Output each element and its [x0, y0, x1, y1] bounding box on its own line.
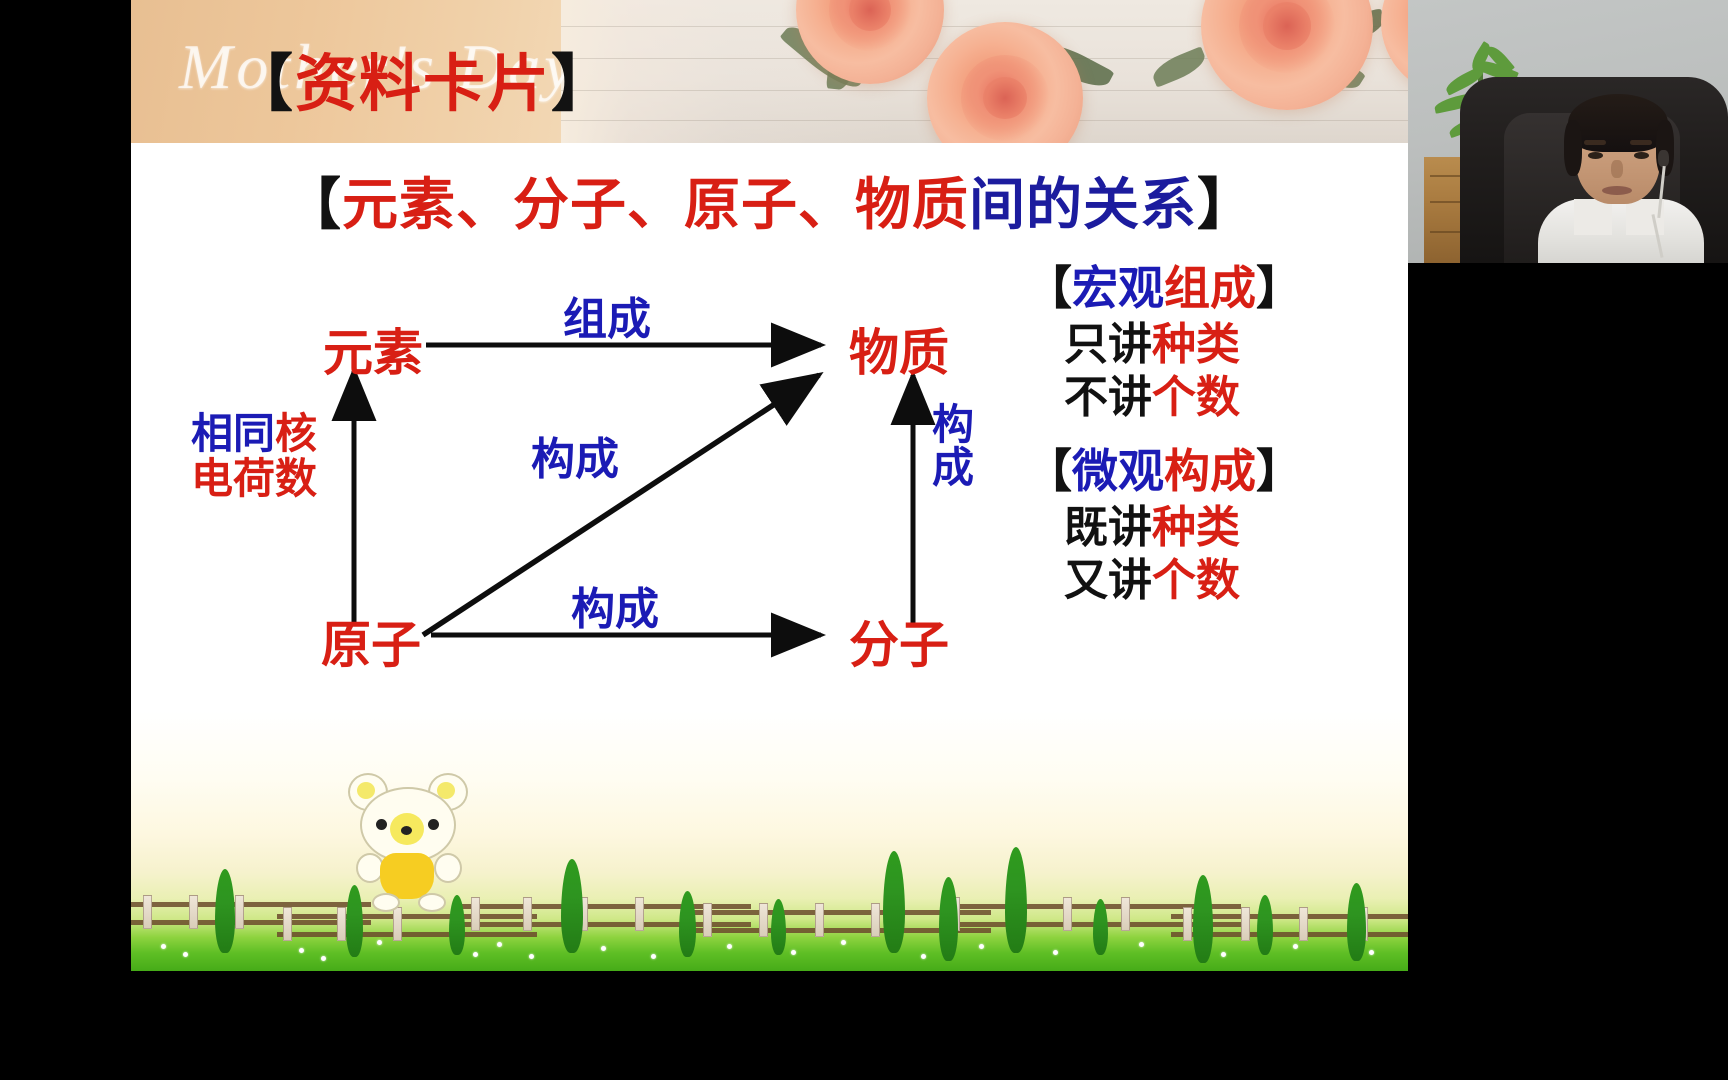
panel-macro-line-2-red: 个数: [1152, 373, 1240, 422]
node-element: 元素: [323, 313, 423, 385]
panel-micro-line-1: 既讲种类: [1064, 502, 1408, 555]
slide-scenery: [131, 711, 1408, 971]
heading-blue-part: 间的关系: [969, 175, 1197, 237]
panel-micro-close-bracket: 】: [1256, 446, 1302, 497]
panel-macro-line-2: 不讲个数: [1064, 372, 1408, 425]
card-title: 【资料卡片】: [231, 33, 615, 123]
side-label-blue-part: 相同: [191, 412, 275, 458]
vertical-label-char-1: 构: [929, 405, 977, 448]
panel-micro-open-bracket: 【: [1026, 446, 1072, 497]
panel-block-macro: 【宏观组成】 只讲种类 不讲个数: [1026, 262, 1408, 425]
card-title-open-bracket: 【: [231, 51, 295, 119]
card-title-close-bracket: 】: [551, 51, 615, 119]
node-atom: 原子: [321, 605, 421, 677]
panel-macro-open-bracket: 【: [1026, 263, 1072, 314]
panel-macro-line-2-black: 不讲: [1064, 373, 1152, 422]
slide-banner: Mother's Day 【资料卡片】: [131, 0, 1408, 143]
panel-macro-title-red: 组成: [1164, 263, 1256, 314]
panel-macro-title-blue: 宏观: [1072, 263, 1164, 314]
webcam-presenter-shirt: [1538, 199, 1704, 263]
panel-micro-title-red: 构成: [1164, 446, 1256, 497]
side-label-line-2: 电荷数: [191, 458, 317, 503]
panel-micro-line-1-red: 种类: [1152, 503, 1240, 552]
panel-micro-line-2-red: 个数: [1152, 556, 1240, 605]
panel-micro-title: 【微观构成】: [1026, 445, 1408, 498]
panel-separator: [1026, 425, 1408, 445]
slide-heading: 【元素、分子、原子、物质间的关系】: [131, 160, 1408, 241]
panel-micro-title-blue: 微观: [1072, 446, 1164, 497]
heading-open-bracket: 【: [285, 175, 342, 237]
panel-macro-line-1-red: 种类: [1152, 320, 1240, 369]
presentation-slide: Mother's Day 【资料卡片】 【元素、分子、原子、物质间的关系】: [131, 0, 1408, 971]
edge-label-atom-to-substance: 构成: [531, 423, 619, 487]
node-substance: 物质: [849, 313, 949, 385]
panel-macro-close-bracket: 】: [1256, 263, 1302, 314]
edge-label-atom-to-molecule: 构成: [571, 573, 659, 637]
card-title-text: 资料卡片: [295, 51, 551, 119]
panel-micro-line-2-black: 又讲: [1064, 556, 1152, 605]
screen-root: Mother's Day 【资料卡片】 【元素、分子、原子、物质间的关系】: [0, 0, 1728, 1080]
explanation-panel: 【宏观组成】 只讲种类 不讲个数 【微观构成】 既讲种类 又讲个数: [1026, 262, 1408, 608]
panel-macro-line-1: 只讲种类: [1064, 319, 1408, 372]
edge-label-molecule-to-substance: 构 成: [929, 405, 977, 492]
panel-micro-line-2: 又讲个数: [1064, 555, 1408, 608]
vertical-label-char-2: 成: [929, 448, 977, 491]
edge-label-element-to-substance: 组成: [563, 283, 651, 347]
panel-macro-line-1-black: 只讲: [1064, 320, 1152, 369]
webcam-earpiece-icon: [1658, 150, 1669, 167]
panel-block-micro: 【微观构成】 既讲种类 又讲个数: [1026, 445, 1408, 608]
presenter-webcam-overlay[interactable]: [1408, 0, 1728, 263]
side-label-line-1: 相同核: [191, 413, 317, 458]
panel-macro-title: 【宏观组成】: [1026, 262, 1408, 315]
bear-mascot-icon: [346, 769, 466, 909]
edge-label-atom-to-element: 相同核 电荷数: [191, 413, 317, 504]
side-label-red-part-1: 核: [275, 412, 317, 458]
node-molecule: 分子: [849, 605, 949, 677]
heading-red-part: 元素、分子、原子、物质: [342, 175, 969, 237]
heading-close-bracket: 】: [1197, 175, 1254, 237]
panel-micro-line-1-black: 既讲: [1064, 503, 1152, 552]
webcam-presenter-hair: [1568, 94, 1668, 152]
